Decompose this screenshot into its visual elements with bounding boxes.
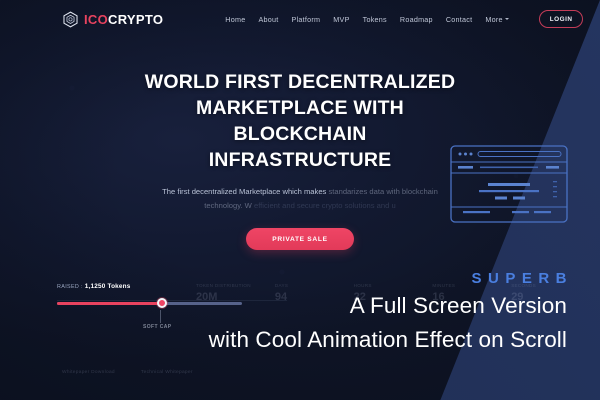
hero-paragraph-line-1: The first decentralized Marketplace whic… (162, 187, 326, 196)
raised-caption: RAISED : (57, 284, 85, 290)
hero-cta-container: PRIVATE SALE (0, 228, 600, 250)
hero-title-line-3: INFRASTRUCTURE (135, 148, 465, 174)
hexagon-logo-icon (62, 11, 79, 28)
progress-handle[interactable] (157, 298, 167, 308)
soft-cap-tick (160, 310, 161, 323)
brand-name-secondary: CRYPTO (108, 12, 163, 27)
chevron-down-icon (505, 18, 509, 20)
nav-item-mvp[interactable]: MVP (333, 15, 349, 24)
promo-kicker: SUPERB (209, 270, 573, 287)
brand-logo[interactable]: ICOCRYPTO (62, 11, 163, 28)
brand-name-primary: ICO (84, 12, 108, 27)
browser-wireframe-illustration (450, 145, 568, 223)
promo-line-2: with Cool Animation Effect on Scroll (209, 325, 567, 355)
screenshot-root: TOKEN DISTRIBUTION 20M DAYS 94 HOURS 22 … (0, 0, 600, 400)
soft-cap-label: SOFT CAP (143, 324, 171, 330)
hero-title: WORLD FIRST DECENTRALIZED MARKETPLACE WI… (135, 70, 465, 174)
nav-item-roadmap[interactable]: Roadmap (400, 15, 433, 24)
nav-item-tokens[interactable]: Tokens (363, 15, 387, 24)
raised-value: 1,1250 Tokens (85, 283, 131, 290)
hero-title-line-1: WORLD FIRST DECENTRALIZED (135, 70, 465, 96)
progress-fill (57, 302, 162, 305)
hero-title-line-2: MARKETPLACE WITH BLOCKCHAIN (135, 96, 465, 148)
hero-paragraph-line-3: efficient and secure crypto solutions an… (254, 201, 396, 210)
private-sale-button[interactable]: PRIVATE SALE (246, 228, 353, 250)
nav-item-about[interactable]: About (258, 15, 278, 24)
nav-item-more[interactable]: More (485, 15, 508, 24)
main-navigation: Home About Platform MVP Tokens Roadmap C… (225, 10, 583, 28)
site-header: ICOCRYPTO Home About Platform MVP Tokens… (0, 0, 600, 38)
nav-item-contact[interactable]: Contact (446, 15, 473, 24)
promo-overlay-text: SUPERB A Full Screen Version with Cool A… (209, 270, 567, 355)
login-button[interactable]: LOGIN (539, 10, 584, 28)
promo-line-1: A Full Screen Version (209, 291, 567, 321)
nav-item-more-label: More (485, 15, 502, 24)
hero-paragraph: The first decentralized Marketplace whic… (155, 185, 445, 213)
nav-item-platform[interactable]: Platform (292, 15, 321, 24)
brand-text: ICOCRYPTO (84, 12, 163, 27)
nav-item-home[interactable]: Home (225, 15, 245, 24)
